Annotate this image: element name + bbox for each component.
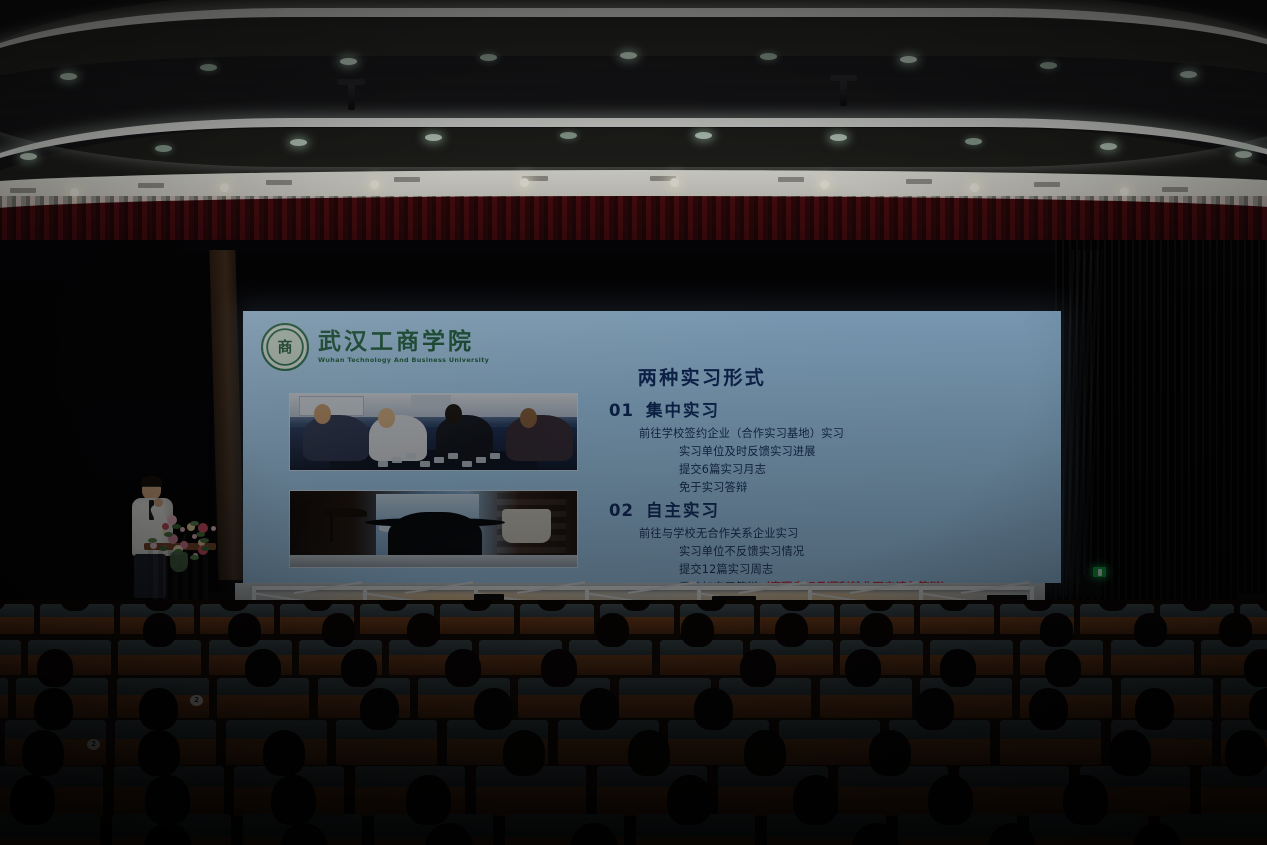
valance-vent [906,179,932,184]
photo2-desk-lamp [322,508,368,517]
photo2-tote-bag [502,509,551,542]
audience-head [1244,649,1267,687]
audience-head [1109,730,1151,776]
photo1-card [476,457,486,463]
stage-speaker-right [1080,575,1102,597]
audience-seat [0,604,34,634]
audience-head [628,730,670,776]
ceiling-downlight [900,56,917,63]
exit-sign-icon [1093,567,1106,577]
audience-head [1040,613,1073,647]
ceiling-downlight [1235,151,1252,158]
section-02-heading: 02 自主实习 [609,497,952,521]
photo1-card [448,453,458,459]
ceiling-downlight [1180,71,1197,78]
audience-head [694,688,733,730]
flower [211,526,216,531]
slide-section-02: 02 自主实习 前往与学校无合作关系企业实习 实习单位不反馈实习情况 提交12篇… [609,497,952,583]
valance-downlight [520,178,529,187]
ceiling-downlight [155,145,172,152]
valance-vent [1162,187,1188,192]
university-name-block: 武汉工商学院 Wuhan Technology And Business Uni… [318,330,489,363]
section-02-line-1: 前往与学校无合作关系企业实习 [639,525,952,543]
audience-head [928,775,973,825]
audience-head [1219,613,1252,647]
valance-vent [138,183,164,188]
section-02-lines: 前往与学校无合作关系企业实习 实习单位不反馈实习情况 提交12篇实习周志 需参加… [639,525,952,583]
audience-head [667,775,712,825]
ceiling-downlight [695,132,712,139]
photo-desk-silhouette [289,490,578,568]
section-01-heading: 01 集中实习 [609,397,844,421]
seat-back-cushion [28,640,111,655]
valance-vent [266,180,292,185]
audience-head [1225,730,1267,776]
audience-head [793,775,838,825]
ceiling-downlight [620,52,637,59]
seat-back-cushion [619,678,711,695]
flower-arrangement [146,514,218,562]
audience-head [1045,649,1081,687]
audience-head [22,730,64,776]
audience-head [474,688,513,730]
ceiling-downlight [1100,143,1117,150]
slide-title: 两种实习形式 [243,363,1061,390]
section-02-line-3: 提交12篇实习周志 [639,561,952,579]
audience-head [10,775,55,825]
photo1-person [303,415,369,461]
section-01-name: 集中实习 [646,397,720,421]
photo1-card [490,453,500,459]
ceiling-downlight [1040,62,1057,69]
seat-back-cushion [959,766,1069,787]
seat-back-cushion [779,720,880,739]
section-02-name: 自主实习 [646,497,720,521]
ceiling-downlight [760,53,777,60]
audience-head [406,775,451,825]
seat-back-cushion [0,678,8,695]
audience-head [681,613,714,647]
ceiling-spotlight [840,80,847,106]
audience-head [869,730,911,776]
audience-head [541,649,577,687]
photo-group-meeting [289,393,578,471]
audience-head [145,775,190,825]
valance-downlight [370,180,379,189]
audience-head [1029,688,1068,730]
audience-head [245,649,281,687]
photo1-card [392,457,402,463]
audience-head [845,649,881,687]
seal-glyph: 商 [277,340,292,355]
valance-vent [778,177,804,182]
foliage [164,532,173,537]
ceiling-spotlight [348,84,355,110]
photo1-card [378,461,388,467]
valance-downlight [970,183,979,192]
foliage [148,538,157,543]
seat-back-cushion [0,640,21,655]
flower-vase [170,552,188,572]
audience-head [740,649,776,687]
audience-seat [0,640,21,675]
slide-section-01: 01 集中实习 前往学校签约企业（合作实习基地）实习 实习单位及时反馈实习进展 … [609,397,844,498]
seat-number: 2 [87,739,100,750]
section-01-line-3: 提交6篇实习月志 [639,461,844,479]
audience-seating: 2222 [0,600,1267,845]
presenter-glasses-icon [143,486,160,491]
photo1-person [436,415,493,461]
seat-number: 2 [190,695,203,706]
photo2-lamp-pole [330,512,333,542]
ceiling-downlight [290,139,307,146]
audience-seat [0,678,8,718]
foliage [190,555,199,560]
ceiling-downlight [425,134,442,141]
audience-head [860,613,893,647]
audience-head [1063,775,1108,825]
valance-vent [394,177,420,182]
audience-head [596,613,629,647]
audience-head [503,730,545,776]
section-01-line-1: 前往学校签约企业（合作实习基地）实习 [639,425,844,443]
seat-back-cushion [930,640,1013,655]
valance-vent [1034,182,1060,187]
audience-seat [779,720,880,765]
valance-downlight [220,183,229,192]
audience-head [580,688,619,730]
section-01-lines: 前往学校签约企业（合作实习基地）实习 实习单位及时反馈实习进展 提交6篇实习月志… [639,425,844,498]
photo1-person-head [445,404,462,424]
section-02-number: 02 [609,501,634,520]
ceiling-downlight [965,138,982,145]
ceiling-downlight [830,134,847,141]
photo1-whiteboard [299,396,364,416]
audience-seat [959,766,1069,816]
audience-head [228,613,261,647]
audience-head [407,613,440,647]
photo1-card [420,461,430,467]
audience-head [775,613,808,647]
valance-downlight [670,178,679,187]
ceiling-downlight [340,58,357,65]
projection-screen: 商 武汉工商学院 Wuhan Technology And Business U… [243,311,1061,583]
audience-head [139,688,178,730]
auditorium-scene: 商 武汉工商学院 Wuhan Technology And Business U… [0,0,1267,845]
section-01-number: 01 [609,401,634,420]
ceiling-downlight [20,153,37,160]
foliage [196,532,205,537]
photo1-card [406,453,416,459]
photo2-desk [290,555,577,567]
valance-downlight [820,180,829,189]
audience-head [445,649,481,687]
section-02-line-2: 实习单位不反馈实习情况 [639,543,952,561]
audience-head [940,649,976,687]
ceiling-downlight [560,132,577,139]
section-01-line-4: 免于实习答辩 [639,479,844,497]
audience-head [34,688,73,730]
photo1-card [462,461,472,467]
audience-head [1135,688,1174,730]
audience-head [322,613,355,647]
audience-head [744,730,786,776]
audience-head [263,730,305,776]
ceiling-downlight [200,64,217,71]
audience-head [915,688,954,730]
ceiling-downlight [480,54,497,61]
audience-head [341,649,377,687]
section-01-line-2: 实习单位及时反馈实习进展 [639,443,844,461]
photo-group-meeting-content [290,394,577,470]
audience-head [37,649,73,687]
ceiling-downlight [60,73,77,80]
audience-head [138,730,180,776]
photo-desk-silhouette-content [290,491,577,567]
valance-downlight [1120,187,1129,196]
photo1-card [434,457,444,463]
exit-running-man-glyph [1098,569,1102,576]
seat-back-cushion [0,604,34,617]
audience-head [143,613,176,647]
photo1-person-head [520,408,537,428]
presenter-hand [154,498,163,507]
university-name-cn: 武汉工商学院 [318,330,489,354]
audience-head [1134,613,1167,647]
foliage [159,546,168,551]
foliage [200,538,209,543]
audience-head [271,775,316,825]
flower [180,527,185,532]
audience-head [360,688,399,730]
foliage [201,546,210,551]
photo1-poster [411,395,451,408]
photo1-person [506,415,572,461]
valance-vent [10,188,36,193]
